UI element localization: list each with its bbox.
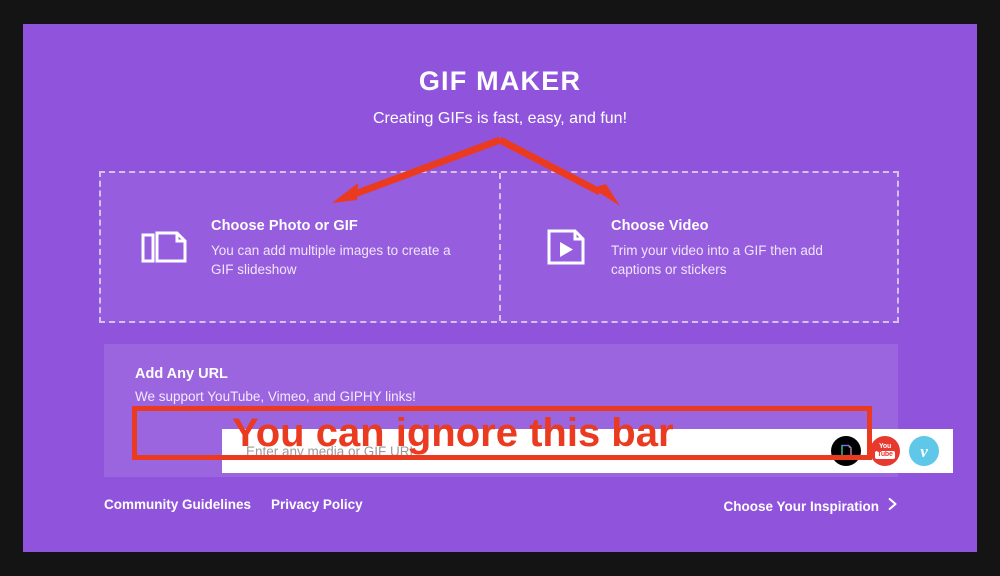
upload-choice-row: Choose Photo or GIF You can add multiple… <box>99 171 899 323</box>
choose-video-text: Choose Video Trim your video into a GIF … <box>611 216 871 279</box>
privacy-policy-link[interactable]: Privacy Policy <box>271 497 363 512</box>
footer-links: Community Guidelines Privacy Policy <box>104 497 363 512</box>
vimeo-icon[interactable]: v <box>909 436 939 466</box>
giphy-icon[interactable] <box>831 436 861 466</box>
chevron-right-icon <box>888 497 898 515</box>
page-subtitle: Creating GIFs is fast, easy, and fun! <box>23 110 977 128</box>
choose-your-inspiration-link[interactable]: Choose Your Inspiration <box>723 497 898 515</box>
url-input[interactable] <box>244 429 831 473</box>
youtube-tube-label: Tube <box>875 451 894 459</box>
video-file-play-icon <box>541 221 593 273</box>
choose-video-description: Trim your video into a GIF then add capt… <box>611 241 871 279</box>
choose-photo-description: You can add multiple images to create a … <box>211 241 471 279</box>
add-any-url-subtitle: We support YouTube, Vimeo, and GIPHY lin… <box>135 389 416 404</box>
vimeo-v-label: v <box>920 443 928 460</box>
choose-video-card[interactable]: Choose Video Trim your video into a GIF … <box>499 173 897 321</box>
page-title: GIF MAKER <box>23 66 977 97</box>
choose-video-title: Choose Video <box>611 218 871 234</box>
add-any-url-panel: Add Any URL We support YouTube, Vimeo, a… <box>104 344 898 477</box>
choose-photo-title: Choose Photo or GIF <box>211 218 471 234</box>
url-input-bar[interactable]: You Tube v <box>222 429 953 473</box>
choose-photo-or-gif-card[interactable]: Choose Photo or GIF You can add multiple… <box>101 173 499 321</box>
screenshot-root: GIF MAKER Creating GIFs is fast, easy, a… <box>0 0 1000 576</box>
add-any-url-title: Add Any URL <box>135 366 228 382</box>
gif-maker-page: GIF MAKER Creating GIFs is fast, easy, a… <box>23 24 977 552</box>
youtube-you-label: You <box>879 443 891 450</box>
header: GIF MAKER Creating GIFs is fast, easy, a… <box>23 24 977 128</box>
choose-your-inspiration-label: Choose Your Inspiration <box>723 499 879 514</box>
choose-photo-text: Choose Photo or GIF You can add multiple… <box>211 216 471 279</box>
photo-stack-icon <box>141 221 193 273</box>
community-guidelines-link[interactable]: Community Guidelines <box>104 497 251 512</box>
supported-services: You Tube v <box>831 436 939 466</box>
youtube-icon[interactable]: You Tube <box>870 436 900 466</box>
